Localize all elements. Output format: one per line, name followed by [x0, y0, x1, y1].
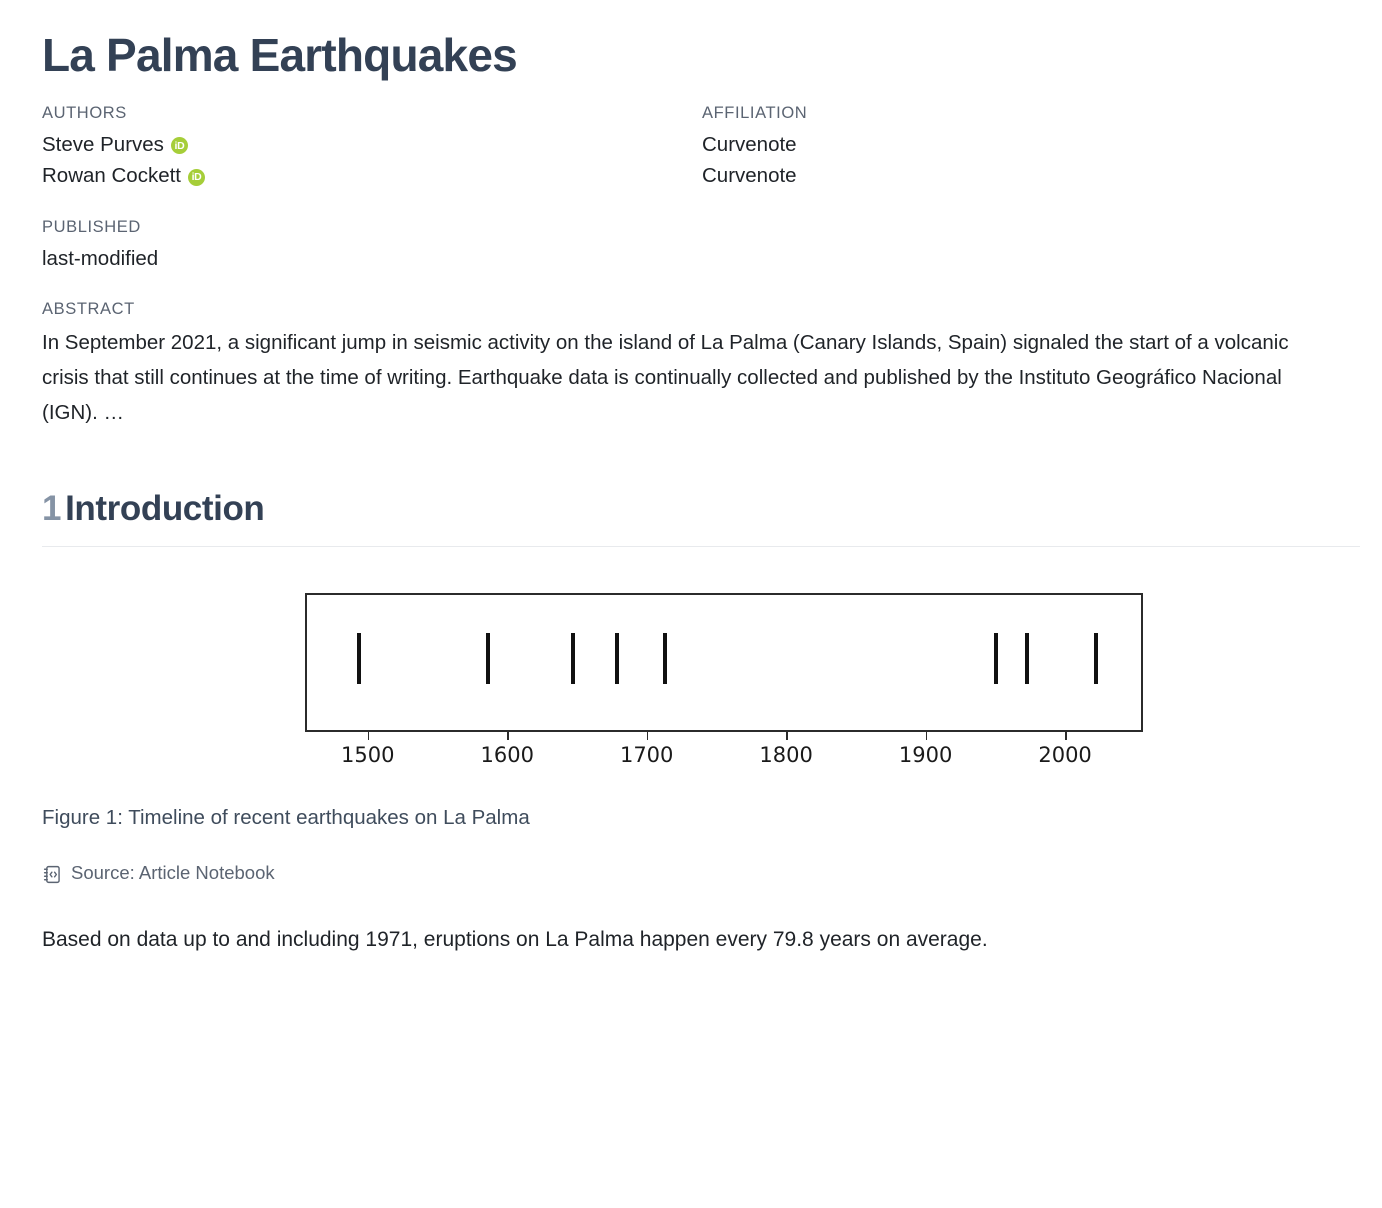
abstract-text: In September 2021, a significant jump in… [42, 325, 1340, 431]
authors-label: AUTHORS [42, 104, 702, 123]
figure-source-label: Source: Article Notebook [71, 862, 275, 884]
axis-tick-label: 1500 [341, 743, 394, 767]
orcid-icon[interactable]: iD [188, 169, 205, 186]
author-name: Rowan Cockett [42, 160, 181, 191]
published-value: last-modified [42, 243, 1340, 274]
event-marker [663, 633, 667, 684]
event-marker [1025, 633, 1029, 684]
notebook-code-icon [42, 864, 63, 885]
section-title: 1Introduction [42, 488, 1340, 530]
abstract-block: ABSTRACT In September 2021, a significan… [42, 300, 1340, 431]
affiliation-value: Curvenote [702, 160, 1340, 191]
article-page: La Palma Earthquakes AUTHORS Steve Purve… [0, 0, 1382, 1208]
axis-tick [926, 732, 928, 740]
event-marker [994, 633, 998, 684]
figure-source[interactable]: Source: Article Notebook [42, 862, 1340, 884]
page-title: La Palma Earthquakes [22, 0, 1360, 82]
affiliation-column: AFFILIATION Curvenote Curvenote [702, 104, 1340, 191]
author-name: Steve Purves [42, 129, 164, 160]
section-divider [42, 546, 1360, 547]
event-marker [486, 633, 490, 684]
axis-tick-label: 1700 [620, 743, 673, 767]
axis-tick [1065, 732, 1067, 740]
authors-affiliation-row: AUTHORS Steve Purves iD Rowan Cockett iD… [42, 104, 1340, 191]
author-entry: Steve Purves iD [42, 129, 702, 160]
affiliation-label: AFFILIATION [702, 104, 1340, 123]
article-metadata: AUTHORS Steve Purves iD Rowan Cockett iD… [22, 104, 1360, 430]
abstract-label: ABSTRACT [42, 300, 1340, 319]
orcid-icon[interactable]: iD [171, 137, 188, 154]
affiliation-value: Curvenote [702, 129, 1340, 160]
axis-tick-label: 1600 [480, 743, 533, 767]
author-entry: Rowan Cockett iD [42, 160, 702, 191]
published-label: PUBLISHED [42, 218, 1340, 237]
axis-tick-label: 2000 [1038, 743, 1091, 767]
body-paragraph: Based on data up to and including 1971, … [22, 922, 1352, 958]
axis-tick-label: 1800 [759, 743, 812, 767]
x-axis-tick-labels: 150016001700180019002000 [305, 743, 1143, 773]
authors-column: AUTHORS Steve Purves iD Rowan Cockett iD [42, 104, 702, 191]
orcid-badge-text: iD [174, 141, 184, 152]
plot-frame [305, 593, 1143, 732]
x-axis-ticks [305, 732, 1143, 740]
axis-tick [368, 732, 370, 740]
published-block: PUBLISHED last-modified [42, 218, 1340, 274]
event-marker [357, 633, 361, 684]
figure-1: 150016001700180019002000 Figure 1: Timel… [22, 593, 1360, 884]
event-marker [571, 633, 575, 684]
axis-tick [786, 732, 788, 740]
timeline-plot: 150016001700180019002000 [42, 593, 1340, 793]
section-heading-introduction: 1Introduction [22, 488, 1360, 547]
section-number: 1 [42, 489, 61, 528]
figure-caption: Figure 1: Timeline of recent earthquakes… [42, 803, 1340, 834]
axis-tick [507, 732, 509, 740]
axis-tick [647, 732, 649, 740]
event-marker [1094, 633, 1098, 684]
orcid-badge-text: iD [192, 172, 202, 183]
axis-tick-label: 1900 [899, 743, 952, 767]
event-marker [615, 633, 619, 684]
section-title-text: Introduction [65, 489, 264, 528]
